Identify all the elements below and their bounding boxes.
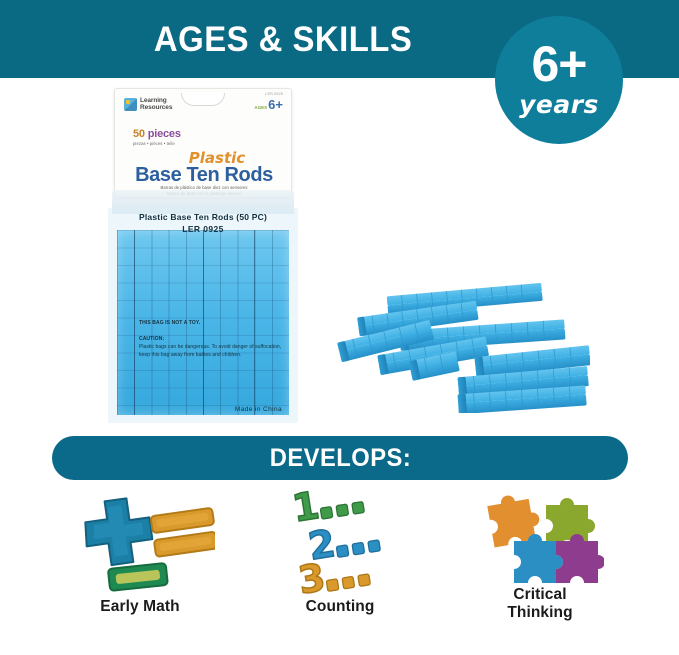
bag-label-code: LER 0925: [108, 224, 298, 234]
package-pieces-number: 50: [133, 128, 145, 140]
skills-row: Early Math 1 2: [40, 486, 640, 646]
product-bag: CAUTION: KEEP AWAY FROM BABIES AND CHILD…: [108, 190, 298, 423]
package-ler-code: LER 0925: [265, 92, 283, 96]
package-piece-count: 50 pieces piezas • pièces • teile: [133, 128, 181, 146]
skill-label-line1: Critical: [513, 586, 566, 603]
math-symbols-svg: [65, 488, 215, 596]
package-age-badge: AGES 6+: [254, 98, 283, 111]
product-package: Learning Resources LER 0925 AGES 6+ 50 p…: [108, 88, 298, 423]
bag-label-title: Plastic Base Ten Rods (50 PC): [108, 212, 298, 222]
puzzle-piece-blue: [514, 534, 563, 583]
skill-counting: 1 2: [240, 486, 440, 646]
math-symbols-icon: [65, 486, 215, 598]
puzzle-piece-purple: [556, 534, 604, 583]
counting-svg: 1 2: [275, 486, 405, 598]
package-pieces-translations: piezas • pièces • teile: [133, 141, 181, 146]
puzzle-svg: [476, 481, 604, 591]
bag-not-a-toy-warning: THIS BAG IS NOT A TOY.: [139, 320, 200, 326]
age-badge-unit: years: [519, 90, 599, 119]
rod-seam: [203, 230, 204, 415]
rods-svg: [330, 268, 590, 413]
bag-caution-body: Plastic bags can be dangerous. To avoid …: [139, 344, 284, 359]
skill-label-line2: Thinking: [507, 604, 572, 621]
age-badge-number: 6+: [531, 41, 586, 89]
numbers-counting-icon: 1 2: [275, 486, 405, 598]
skill-early-math: Early Math: [40, 486, 240, 646]
age-badge-circle: 6+ years: [495, 16, 623, 144]
puzzle-pieces-icon: [476, 486, 604, 586]
equals-icon: [151, 508, 215, 557]
skill-label-counting: Counting: [306, 598, 375, 616]
package-pieces-word: pieces: [148, 128, 181, 140]
develops-banner: DEVELOPS:: [52, 436, 628, 480]
plus-icon: [81, 496, 155, 569]
minus-icon: [108, 563, 168, 591]
hang-hole-icon: [181, 93, 225, 106]
skill-critical-thinking: Critical Thinking: [440, 486, 640, 646]
rod-seam: [254, 230, 255, 415]
package-header-card: Learning Resources LER 0925 AGES 6+ 50 p…: [114, 88, 292, 198]
cube-logo-icon: [124, 98, 137, 111]
package-title: Base Ten Rods: [115, 164, 292, 187]
package-ages-label: AGES: [254, 106, 267, 111]
bag-caution-heading: CAUTION:: [139, 336, 164, 342]
bag-body: CAUTION: KEEP AWAY FROM BABIES AND CHILD…: [108, 208, 298, 423]
skill-label-early-math: Early Math: [100, 598, 179, 616]
bag-made-in: Made in China: [235, 406, 282, 413]
brand-logo: Learning Resources: [124, 97, 172, 112]
rod-seam: [134, 230, 135, 415]
skill-label-critical-thinking: Critical Thinking: [507, 586, 572, 623]
develops-label: DEVELOPS:: [269, 444, 411, 473]
brand-name-line2: Resources: [140, 104, 172, 111]
blue-base-ten-rods-photo: [330, 268, 590, 413]
package-age-value: 6+: [268, 98, 283, 111]
package-pieces-main: 50 pieces: [133, 128, 181, 140]
brand-name: Learning Resources: [140, 97, 172, 112]
brand-name-line1: Learning: [140, 97, 172, 104]
